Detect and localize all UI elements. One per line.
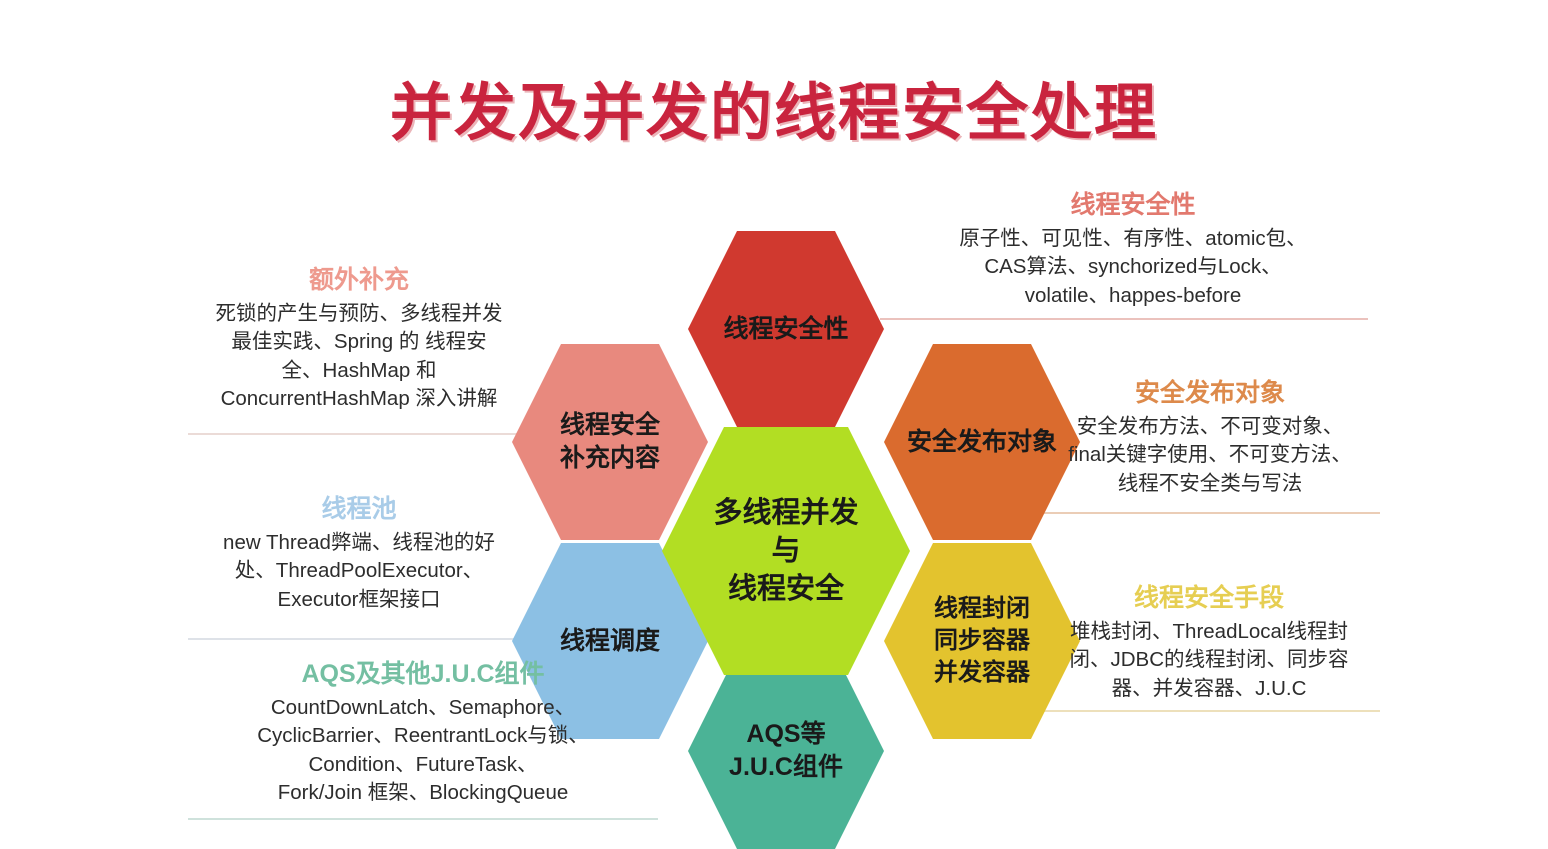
hex-aqs-juc-label: AQS等 J.U.C组件 — [729, 718, 843, 784]
block-safe-publish: 安全发布对象 安全发布方法、不可变对象、 final关键字使用、不可变方法、 线… — [1038, 378, 1382, 498]
block-thread-safety-means-heading: 线程安全手段 — [1036, 583, 1382, 613]
rule-extra — [188, 433, 530, 435]
block-extra: 额外补充 死锁的产生与预防、多线程并发 最佳实践、Spring 的 线程安 全、… — [186, 265, 532, 413]
block-thread-pool-heading: 线程池 — [186, 494, 532, 524]
hex-aqs-juc[interactable]: AQS等 J.U.C组件 — [688, 653, 884, 849]
block-aqs-body: CountDownLatch、Semaphore、 CyclicBarrier、… — [186, 694, 660, 807]
block-thread-safety-means-body: 堆栈封闭、ThreadLocal线程封 闭、JDBC的线程封闭、同步容 器、并发… — [1036, 618, 1382, 703]
hex-thread-safety-extra-label: 线程安全 补充内容 — [560, 409, 660, 475]
rule-safe-publish — [1040, 512, 1380, 514]
block-extra-body: 死锁的产生与预防、多线程并发 最佳实践、Spring 的 线程安 全、HashM… — [186, 300, 532, 413]
hex-thread-confinement-label: 线程封闭 同步容器 并发容器 — [934, 593, 1030, 688]
block-aqs: AQS及其他J.U.C组件 CountDownLatch、Semaphore、 … — [186, 659, 660, 807]
block-safe-publish-heading: 安全发布对象 — [1038, 378, 1382, 408]
rule-aqs — [188, 818, 658, 820]
infographic-canvas: 并发及并发的线程安全处理 线程安全性 安全发布对象 线程封闭 同步容器 并发容器… — [0, 0, 1548, 843]
block-thread-pool-body: new Thread弊端、线程池的好 处、ThreadPoolExecutor、… — [186, 529, 532, 614]
block-thread-safety: 线程安全性 原子性、可见性、有序性、atomic包、 CAS算法、synchor… — [898, 190, 1368, 310]
hex-thread-safety-extra[interactable]: 线程安全 补充内容 — [512, 344, 708, 540]
hex-thread-scheduling-label: 线程调度 — [560, 625, 660, 658]
block-thread-pool: 线程池 new Thread弊端、线程池的好 处、ThreadPoolExecu… — [186, 494, 532, 614]
hex-safe-publish-label: 安全发布对象 — [907, 426, 1057, 459]
block-thread-safety-means: 线程安全手段 堆栈封闭、ThreadLocal线程封 闭、JDBC的线程封闭、同… — [1036, 583, 1382, 703]
hex-center-core-label: 多线程并发 与 线程安全 — [713, 494, 858, 609]
block-safe-publish-body: 安全发布方法、不可变对象、 final关键字使用、不可变方法、 线程不安全类与写… — [1038, 413, 1382, 498]
block-aqs-heading: AQS及其他J.U.C组件 — [186, 659, 660, 689]
block-thread-safety-body: 原子性、可见性、有序性、atomic包、 CAS算法、synchorized与L… — [898, 225, 1368, 310]
rule-thread-pool — [188, 638, 530, 640]
hex-thread-safety-label: 线程安全性 — [723, 313, 848, 346]
rule-thread-safety — [880, 318, 1368, 320]
hex-thread-safety[interactable]: 线程安全性 — [688, 231, 884, 427]
block-extra-heading: 额外补充 — [186, 265, 532, 295]
page-title: 并发及并发的线程安全处理 — [0, 62, 1548, 152]
block-thread-safety-heading: 线程安全性 — [898, 190, 1368, 220]
rule-thread-safety-means — [1038, 710, 1380, 712]
